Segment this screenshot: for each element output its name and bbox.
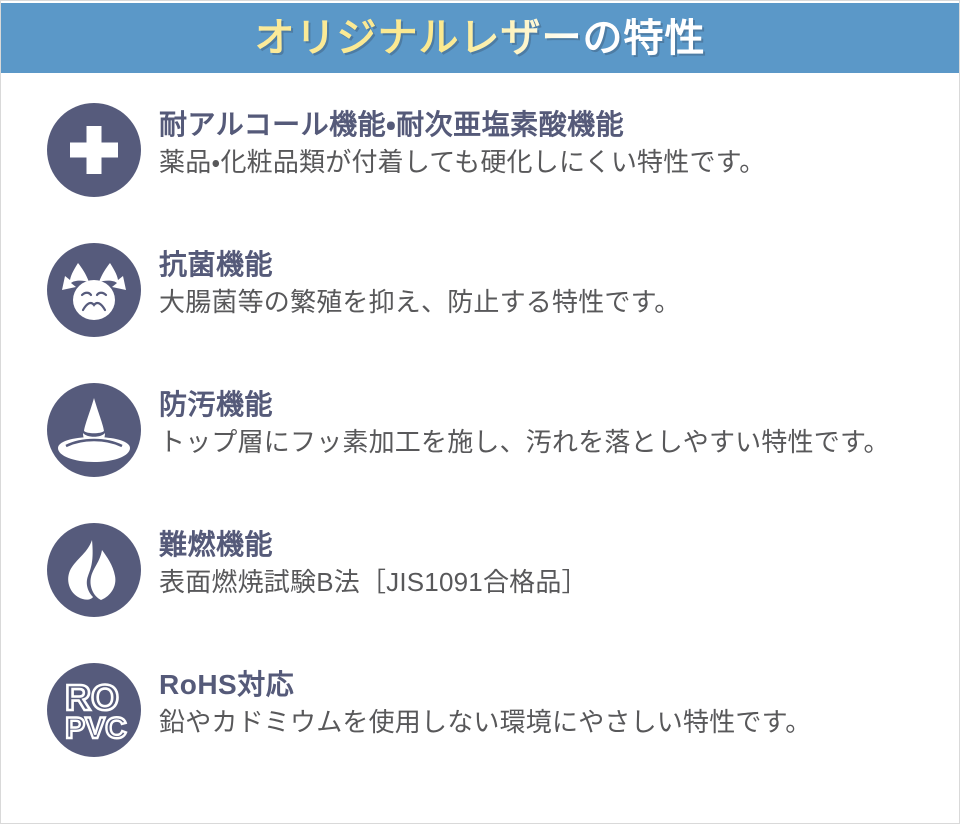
feature-description: 薬品・化粧品類が付着しても硬化しにくい特性です。 [159,146,959,180]
feature-description: トップ層にフッ素加工を施し、汚れを落としやすい特性です。 [159,426,959,460]
rohs-icon-text-bottom: PVC [65,712,127,745]
cross-plus-icon [47,103,141,197]
feature-title: 耐アルコール機能・耐次亜塩素酸機能 [159,107,959,142]
feature-text: RoHS対応 鉛やカドミウムを使用しない環境にやさしい特性です。 [141,633,959,740]
rohs-pvc-icon: RO PVC [47,663,141,757]
feature-title: 防汚機能 [159,387,959,422]
feature-text: 防汚機能 トップ層にフッ素加工を施し、汚れを落としやすい特性です。 [141,353,959,460]
feature-item-alcohol-resistance: 耐アルコール機能・耐次亜塩素酸機能 薬品・化粧品類が付着しても硬化しにくい特性で… [1,73,959,213]
feature-title: 難燃機能 [159,527,959,562]
feature-item-rohs: RO PVC RoHS対応 鉛やカドミウムを使用しない環境にやさしい特性です。 [1,633,959,773]
feature-description: 表面燃焼試験B法［JIS1091合格品］ [159,566,959,600]
page-title: オリジナルレザーの特性 [255,18,706,58]
feature-item-anti-stain: 防汚機能 トップ層にフッ素加工を施し、汚れを落としやすい特性です。 [1,353,959,493]
header-banner: オリジナルレザーの特性 [1,3,959,73]
feature-item-antibacterial: 抗菌機能 大腸菌等の繁殖を抑え、防止する特性です。 [1,213,959,353]
feature-text: 難燃機能 表面燃焼試験B法［JIS1091合格品］ [141,493,959,600]
antibacterial-germ-icon [47,243,141,337]
feature-list: 耐アルコール機能・耐次亜塩素酸機能 薬品・化粧品類が付着しても硬化しにくい特性で… [1,73,959,773]
feature-title: 抗菌機能 [159,247,959,282]
water-droplet-repellent-icon [47,383,141,477]
feature-description: 大腸菌等の繁殖を抑え、防止する特性です。 [159,286,959,320]
feature-title: RoHS対応 [159,667,959,702]
feature-description: 鉛やカドミウムを使用しない環境にやさしい特性です。 [159,706,959,740]
flame-icon [47,523,141,617]
feature-panel: オリジナルレザーの特性 耐アルコール機能・耐次亜塩素酸機能 薬品・化粧品類が付着… [0,0,960,824]
feature-text: 抗菌機能 大腸菌等の繁殖を抑え、防止する特性です。 [141,213,959,320]
feature-text: 耐アルコール機能・耐次亜塩素酸機能 薬品・化粧品類が付着しても硬化しにくい特性で… [141,73,959,180]
feature-item-flame-retardant: 難燃機能 表面燃焼試験B法［JIS1091合格品］ [1,493,959,633]
